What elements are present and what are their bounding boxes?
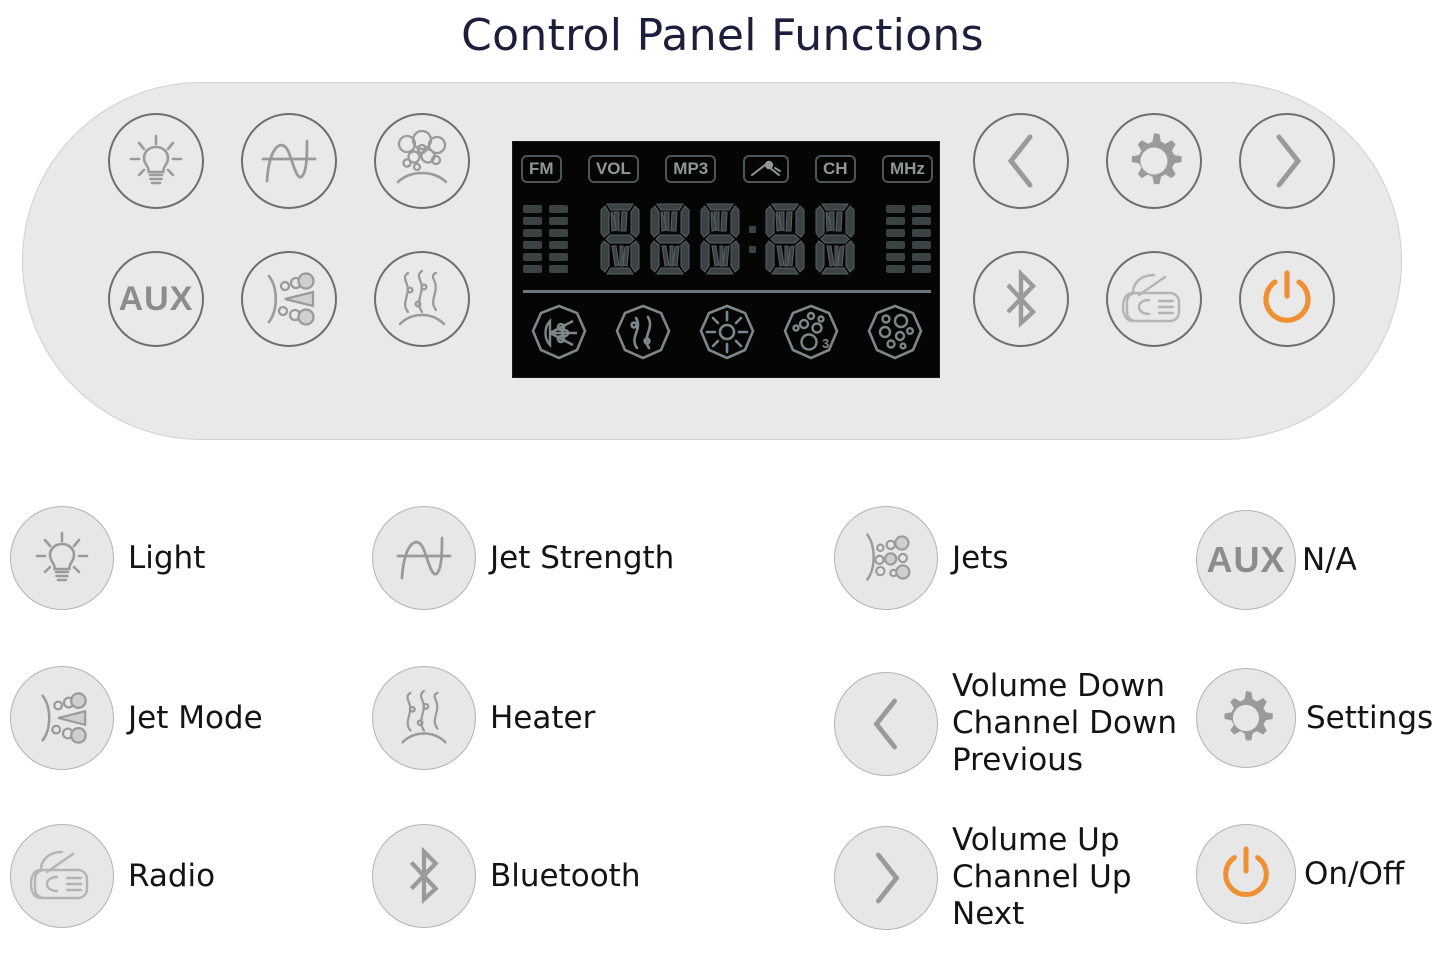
legend-label: Heater	[490, 700, 595, 737]
aux-text-icon: AUX	[1196, 510, 1296, 610]
lcd-indicator-row: FM VOL MP3 CH MHz	[521, 152, 933, 186]
aux-button[interactable]: AUX	[108, 251, 204, 347]
lcd-right-bargraph	[886, 205, 931, 273]
legend-bluetooth[interactable]: Bluetooth	[372, 824, 641, 928]
page-title: Control Panel Functions	[0, 10, 1445, 61]
gear-icon	[1196, 668, 1296, 768]
lcd-heater-icon	[611, 303, 675, 367]
bluetooth-icon	[372, 824, 476, 928]
lcd-readout-row	[523, 194, 931, 284]
radio-icon	[10, 824, 114, 928]
lcd-colon	[749, 226, 756, 253]
jet-strength-wave-icon	[257, 131, 321, 191]
bluetooth-button[interactable]	[973, 251, 1069, 347]
legend-volume-up[interactable]: Volume Up Channel Up Next	[834, 822, 1132, 933]
legend-label: Volume Down Channel Down Previous	[952, 668, 1177, 779]
jet-mode-icon	[10, 666, 114, 770]
bluetooth-icon	[999, 267, 1043, 331]
lcd-ozone-icon: 3	[779, 303, 843, 367]
lcd-digit	[698, 200, 742, 278]
lcd-divider	[523, 290, 931, 293]
legend-jets[interactable]: Jets	[834, 506, 1009, 610]
lcd-digits	[598, 200, 857, 278]
aux-label: AUX	[1206, 539, 1285, 581]
lcd-blower-icon	[863, 303, 927, 367]
chevron-right-icon	[1264, 131, 1310, 191]
heater-button[interactable]	[374, 251, 470, 347]
lcd-left-bargraph	[523, 205, 568, 273]
legend-label: Jet Strength	[490, 540, 674, 577]
radio-icon	[1121, 271, 1187, 327]
legend-label: Light	[128, 540, 205, 577]
legend-label: Volume Up Channel Up Next	[952, 822, 1132, 933]
heater-waves-icon	[390, 268, 454, 330]
next-button[interactable]	[1239, 113, 1335, 209]
legend-settings[interactable]: Settings	[1196, 668, 1433, 768]
legend-label: Settings	[1306, 700, 1433, 737]
light-bulb-icon	[10, 506, 114, 610]
legend-heater[interactable]: Heater	[372, 666, 595, 770]
chevron-left-icon	[998, 131, 1044, 191]
previous-button[interactable]	[973, 113, 1069, 209]
legend-volume-down[interactable]: Volume Down Channel Down Previous	[834, 668, 1177, 779]
jet-mode-icon	[257, 270, 321, 328]
fm-indicator: FM	[521, 155, 562, 183]
jet-mode-button[interactable]	[241, 251, 337, 347]
heater-waves-icon	[372, 666, 476, 770]
lcd-display: FM VOL MP3 CH MHz	[512, 141, 940, 378]
aux-text-icon: AUX	[119, 280, 194, 319]
legend-label: N/A	[1302, 542, 1357, 579]
light-button[interactable]	[108, 113, 204, 209]
legend-jet-mode[interactable]: Jet Mode	[10, 666, 263, 770]
legend-radio[interactable]: Radio	[10, 824, 215, 928]
lcd-light-icon	[695, 303, 759, 367]
light-bulb-icon	[125, 130, 187, 192]
lcd-digit	[813, 200, 857, 278]
power-icon	[1257, 269, 1317, 329]
power-icon	[1196, 824, 1296, 924]
legend-label: Bluetooth	[490, 858, 641, 895]
settings-button[interactable]	[1106, 113, 1202, 209]
chevron-left-icon	[834, 672, 938, 776]
lcd-status-icon-row: 3	[527, 302, 927, 368]
legend-light[interactable]: Light	[10, 506, 205, 610]
control-panel-device: AUX	[22, 82, 1402, 440]
ch-indicator: CH	[815, 155, 856, 183]
legend-section: Light Jet Strength	[0, 496, 1445, 954]
power-button[interactable]	[1239, 251, 1335, 347]
gear-icon	[1123, 130, 1185, 192]
jet-strength-button[interactable]	[241, 113, 337, 209]
jets-bubbles-icon	[834, 506, 938, 610]
service-wrench-indicator	[743, 155, 789, 183]
lcd-digit	[648, 200, 692, 278]
radio-button[interactable]	[1106, 251, 1202, 347]
legend-label: On/Off	[1304, 856, 1404, 893]
jet-strength-wave-icon	[372, 506, 476, 610]
chevron-right-icon	[834, 826, 938, 930]
svg-text:3: 3	[822, 336, 829, 351]
legend-label: Radio	[128, 858, 215, 895]
jets-button[interactable]	[374, 113, 470, 209]
lcd-digit	[763, 200, 807, 278]
legend-aux[interactable]: AUX N/A	[1196, 510, 1357, 610]
legend-on-off[interactable]: On/Off	[1196, 824, 1404, 924]
mhz-indicator: MHz	[882, 155, 933, 183]
jets-bubbles-icon	[390, 130, 454, 192]
legend-jet-strength[interactable]: Jet Strength	[372, 506, 674, 610]
legend-label: Jet Mode	[128, 700, 263, 737]
mp3-indicator: MP3	[665, 155, 716, 183]
legend-label: Jets	[952, 540, 1009, 577]
lcd-pump-icon	[527, 303, 591, 367]
lcd-digit	[598, 200, 642, 278]
vol-indicator: VOL	[588, 155, 639, 183]
